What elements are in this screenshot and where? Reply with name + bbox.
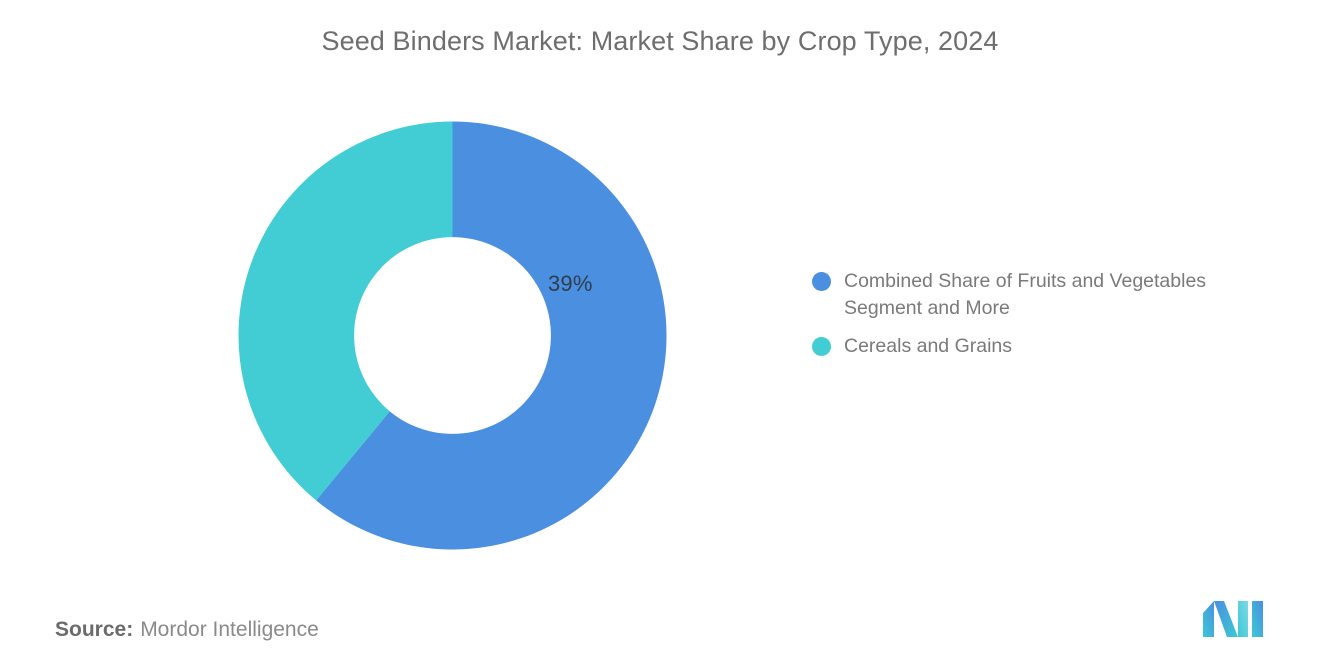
donut-chart-svg: [238, 121, 667, 550]
legend-item-combined-share[interactable]: Combined Share of Fruits and Vegetables …: [812, 268, 1282, 322]
legend-label-cereals-and-grains: Cereals and Grains: [844, 333, 1012, 360]
legend-swatch-icon-cereals-and-grains: [812, 337, 831, 356]
source-value: Mordor Intelligence: [140, 618, 319, 641]
chart-legend: Combined Share of Fruits and Vegetables …: [812, 268, 1282, 371]
logo-icon: [1202, 600, 1264, 638]
donut-hole: [354, 237, 551, 434]
page-title: Seed Binders Market: Market Share by Cro…: [0, 26, 1320, 57]
mordor-intelligence-logo: [1202, 600, 1264, 638]
legend-swatch-icon-combined-share: [812, 272, 831, 291]
pie-slice-label-cereals-and-grains: 39%: [548, 271, 593, 297]
legend-label-combined-share: Combined Share of Fruits and Vegetables …: [844, 268, 1264, 322]
source-line: Source:Mordor Intelligence: [55, 618, 319, 642]
source-label: Source:: [55, 618, 133, 641]
legend-item-cereals-and-grains[interactable]: Cereals and Grains: [812, 333, 1282, 360]
donut-chart: [238, 121, 667, 550]
